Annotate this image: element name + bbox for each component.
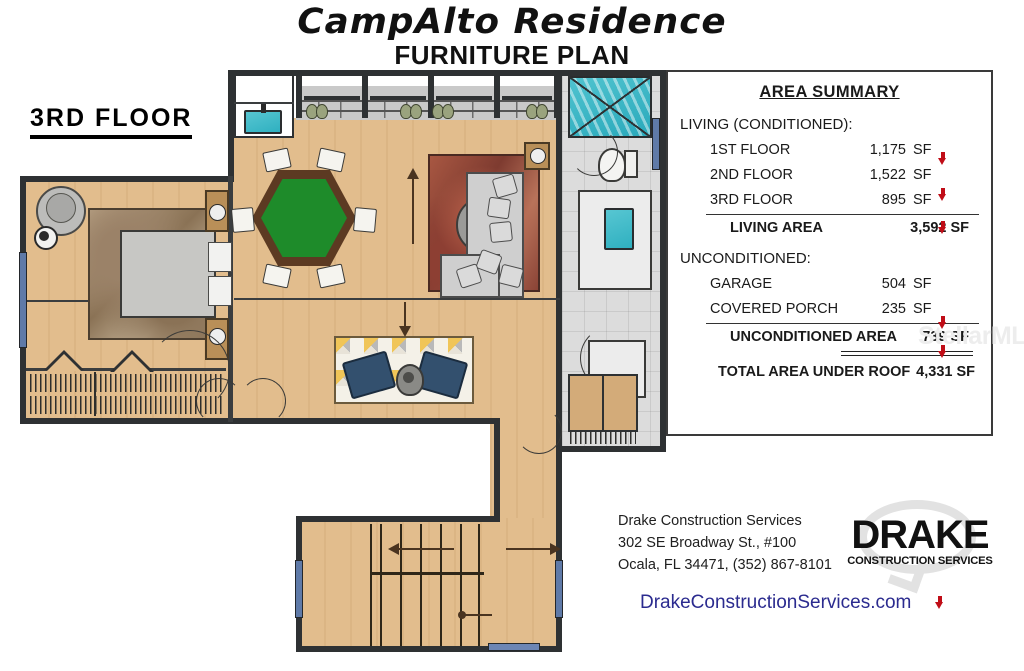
closet-door-peak-fill-2 [113, 354, 151, 373]
circulation-arrow-up-head [407, 168, 419, 179]
row-value-covered-porch: 235 [850, 301, 906, 317]
company-address-line2: Ocala, FL 34471, (352) 867-8101 [618, 554, 832, 576]
hall-door-arc-left [196, 378, 242, 424]
company-website-link[interactable]: DrakeConstructionServices.com [640, 592, 911, 614]
living-total-label: LIVING AREA [730, 220, 823, 236]
stair-tread-3 [420, 524, 422, 646]
row-value-2nd-floor: 1,522 [850, 167, 906, 183]
lower-closet-divider [602, 374, 604, 432]
row-unit-1st-floor: SF [913, 142, 932, 158]
table-row: GARAGE 504 SF [668, 276, 991, 292]
toilet-tank [624, 150, 638, 178]
lower-closet-rod [570, 432, 636, 444]
lounge-stool-top [403, 372, 414, 383]
window-stair-east [555, 560, 563, 618]
row-unit-2nd-floor: SF [913, 167, 932, 183]
unconditioned-section-heading: UNCONDITIONED: [680, 250, 991, 267]
stair-down-marker-dot [458, 611, 466, 619]
wet-bar-faucet [261, 104, 266, 113]
logo-wordmark: DRAKE [840, 513, 1000, 558]
stair-down-marker-shaft [462, 614, 492, 616]
floor-lamp-base [39, 231, 49, 241]
table-lamp-top [209, 204, 226, 221]
row-label-2nd-floor: 2ND FLOOR [710, 167, 850, 183]
row-label-garage: GARAGE [710, 276, 850, 292]
game-chair-3 [231, 207, 255, 233]
living-subtotal-rule [706, 214, 979, 215]
stair-landing-line [370, 572, 484, 575]
hall-door-arc-right [240, 378, 286, 424]
grand-total-label: TOTAL AREA UNDER ROOF [718, 364, 910, 380]
conditioned-section-heading: LIVING (CONDITIONED): [680, 116, 991, 133]
table-row: 2ND FLOOR 1,522 SF [668, 167, 991, 183]
row-label-1st-floor: 1ST FLOOR [710, 142, 850, 158]
wall-bath-bottom [556, 446, 666, 452]
company-name: Drake Construction Services [618, 510, 832, 532]
shower-diagonal-2 [568, 76, 652, 138]
room-stairwell [298, 518, 562, 650]
unconditioned-total-label: UNCONDITIONED AREA [730, 329, 897, 345]
stair-arrow-entry-shaft [506, 548, 552, 550]
window-bedroom-west [19, 252, 27, 348]
row-unit-garage: SF [913, 276, 932, 292]
balcony-plant-8 [536, 104, 548, 119]
row-unit-3rd-floor: SF [913, 192, 932, 208]
wall-exterior-top-center [230, 70, 562, 76]
circulation-arrow-down-shaft [404, 302, 406, 328]
stair-tread-1 [380, 524, 382, 646]
wall-bath-left [556, 70, 562, 452]
slider-mullion-5 [554, 72, 560, 118]
circulation-arrow-up-shaft [412, 176, 414, 244]
bed-pillow-2 [208, 276, 232, 306]
slider-mullion-1 [296, 72, 302, 118]
wall-interior-greatroom-split [234, 298, 560, 300]
sofa-cushion-2 [487, 197, 512, 220]
slider-mullion-4 [494, 72, 500, 118]
company-address-line1: 302 SE Broadway St., #100 [618, 532, 832, 554]
window-stair-west [295, 560, 303, 618]
accent-chair-cushion [46, 193, 76, 223]
row-label-covered-porch: COVERED PORCH [710, 301, 850, 317]
balcony-plant-6 [442, 104, 454, 119]
closet-door-peak-fill-1 [47, 354, 81, 371]
bed [120, 230, 216, 318]
logo-tagline: CONSTRUCTION SERVICES [840, 555, 1000, 567]
bathroom-sink [604, 208, 634, 250]
slider-panel-track-2 [370, 96, 426, 100]
balcony-plant-4 [410, 104, 422, 119]
row-value-3rd-floor: 895 [850, 192, 906, 208]
drake-logo: DRAKE CONSTRUCTION SERVICES [840, 500, 1000, 578]
stair-arrow-entry-head [550, 543, 561, 555]
balcony-plant-2 [316, 104, 328, 119]
closet-divider [94, 372, 96, 416]
sofa-cushion-3 [489, 221, 513, 243]
stair-tread-5 [460, 524, 462, 646]
row-value-garage: 504 [850, 276, 906, 292]
wall-exterior-left-upper [228, 70, 234, 182]
window-stair-south [488, 643, 540, 651]
cursor-arrow-icon-3 [938, 221, 947, 234]
grand-total-value: 4,331 SF [916, 364, 975, 380]
shower-door-arc [570, 128, 618, 176]
game-chair-4 [353, 207, 377, 233]
wall-stair-top [296, 516, 500, 522]
slider-panel-track-4 [502, 96, 552, 100]
slider-panel-track-3 [436, 96, 492, 100]
row-value-1st-floor: 1,175 [850, 142, 906, 158]
floor-plan-drawing [0, 0, 680, 671]
wet-bar-sink [244, 110, 282, 134]
hall-door-arc-bath [516, 408, 562, 454]
game-table [252, 170, 356, 266]
wall-bedroom-top [20, 176, 234, 182]
wall-hall-right [494, 418, 500, 522]
circulation-arrow-down-head [399, 326, 411, 337]
living-table-lamp [530, 148, 546, 164]
stellar-mls-watermark: StellarMLS [918, 322, 1024, 351]
grand-total-row: TOTAL AREA UNDER ROOF 4,331 SF [668, 364, 991, 380]
stair-stringer [370, 524, 372, 646]
stair-tread-6 [478, 524, 480, 646]
stair-tread-2 [400, 524, 402, 646]
area-summary-title: AREA SUMMARY [668, 83, 991, 102]
table-row: COVERED PORCH 235 SF [668, 301, 991, 317]
area-summary-panel: AREA SUMMARY LIVING (CONDITIONED): 1ST F… [666, 70, 993, 436]
slider-mullion-2 [362, 72, 368, 118]
stair-arrow-up-shaft [398, 548, 454, 550]
bed-pillow-1 [208, 242, 232, 272]
cursor-arrow-icon-6 [935, 596, 944, 609]
window-bath-east [652, 118, 660, 170]
slider-panel-track-1 [304, 96, 360, 100]
stair-arrow-up-head [388, 543, 399, 555]
row-label-3rd-floor: 3RD FLOOR [710, 192, 850, 208]
wet-bar-shelf-line [234, 102, 294, 104]
stair-tread-4 [440, 524, 442, 646]
grand-total-rule [841, 351, 973, 356]
cursor-arrow-icon-1 [938, 152, 947, 165]
row-unit-covered-porch: SF [913, 301, 932, 317]
cursor-arrow-icon-2 [938, 188, 947, 201]
company-address-block: Drake Construction Services 302 SE Broad… [618, 510, 832, 577]
